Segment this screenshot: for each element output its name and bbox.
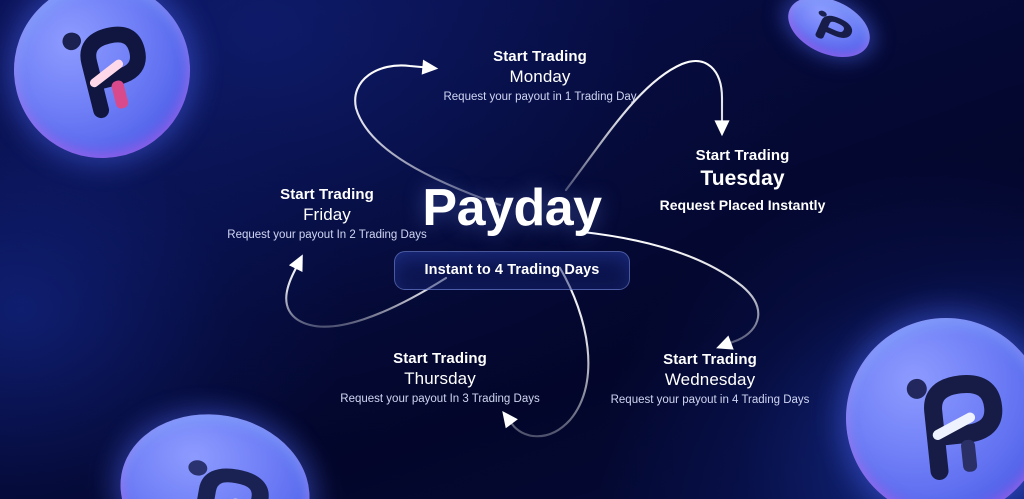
node-heading: Start Trading bbox=[600, 351, 820, 369]
node-monday: Start Trading Monday Request your payout… bbox=[430, 48, 650, 106]
status-badge: Instant to 4 Trading Days bbox=[394, 251, 631, 290]
node-heading: Start Trading bbox=[430, 48, 650, 66]
node-wednesday: Start Trading Wednesday Request your pay… bbox=[600, 351, 820, 409]
node-heading: Start Trading bbox=[645, 147, 840, 165]
node-detail: Request Placed Instantly bbox=[645, 196, 840, 215]
node-day: Friday bbox=[222, 204, 432, 226]
node-day: Tuesday bbox=[645, 165, 840, 192]
payday-infographic: Payday Instant to 4 Trading Days Start T… bbox=[0, 0, 1024, 499]
node-heading: Start Trading bbox=[222, 186, 432, 204]
page-title: Payday bbox=[0, 182, 1024, 234]
node-day: Thursday bbox=[330, 368, 550, 390]
node-detail: Request your payout In 3 Trading Days bbox=[330, 392, 550, 408]
node-detail: Request your payout in 1 Trading Day bbox=[430, 90, 650, 106]
center-block: Payday Instant to 4 Trading Days bbox=[0, 182, 1024, 290]
node-detail: Request your payout in 4 Trading Days bbox=[600, 393, 820, 409]
node-thursday: Start Trading Thursday Request your payo… bbox=[330, 350, 550, 408]
node-tuesday: Start Trading Tuesday Request Placed Ins… bbox=[645, 147, 840, 214]
node-friday: Start Trading Friday Request your payout… bbox=[222, 186, 432, 244]
node-detail: Request your payout In 2 Trading Days bbox=[222, 228, 432, 244]
node-day: Monday bbox=[430, 66, 650, 88]
node-day: Wednesday bbox=[600, 369, 820, 391]
node-heading: Start Trading bbox=[330, 350, 550, 368]
